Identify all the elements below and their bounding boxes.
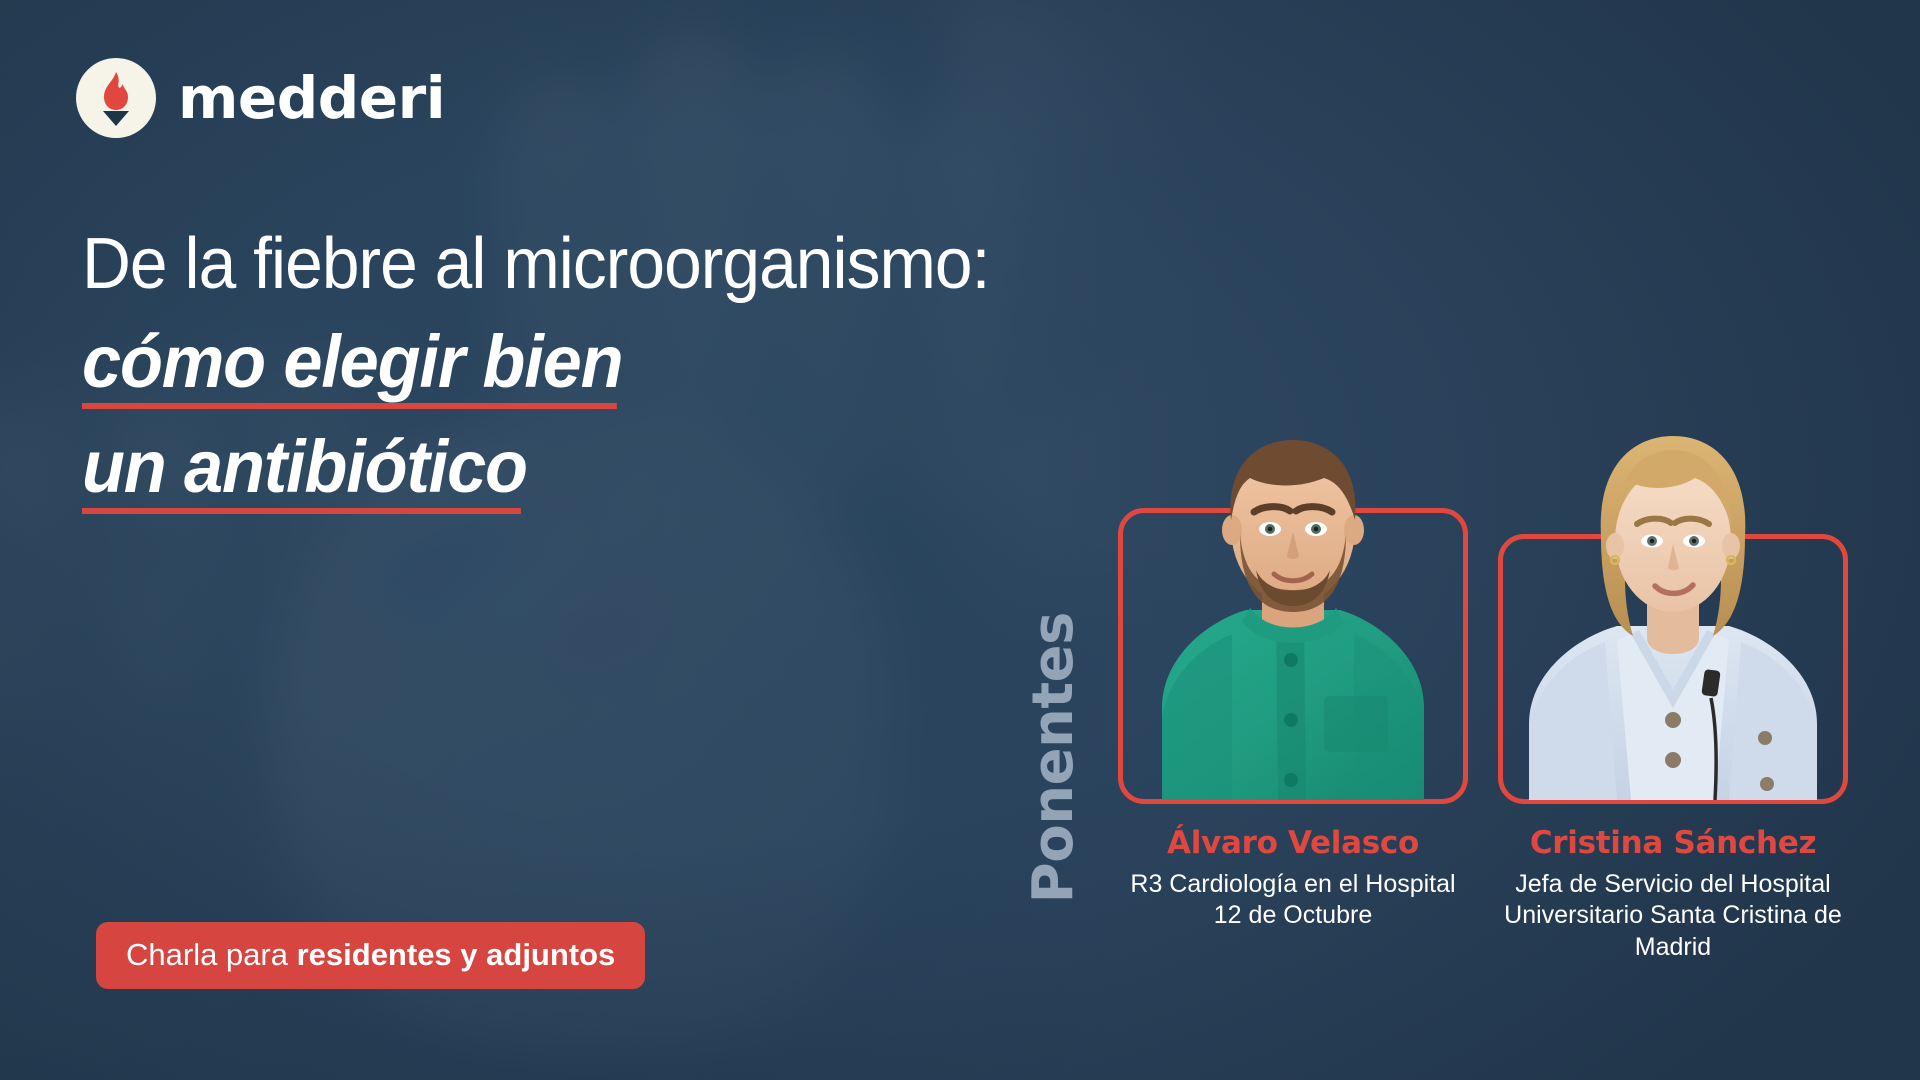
brand-name: medderi bbox=[178, 69, 445, 127]
speakers-vertical-label: Ponentes bbox=[1026, 612, 1082, 903]
portrait-cristina-sanchez bbox=[1505, 408, 1841, 800]
brand-logo[interactable]: medderi bbox=[76, 58, 445, 138]
audience-badge-light-text: Charla para bbox=[126, 937, 297, 972]
promo-banner: medderi De la fiebre al microorganismo: … bbox=[0, 0, 1920, 1080]
title-line-3-row: un antibiótico bbox=[82, 425, 1142, 514]
speaker-card: Cristina Sánchez Jefa de Servicio del Ho… bbox=[1498, 404, 1848, 963]
title-line-3: un antibiótico bbox=[82, 425, 527, 514]
speaker-role: R3 Cardiología en el Hospital 12 de Octu… bbox=[1118, 869, 1468, 932]
audience-badge-bold-text: residentes y adjuntos bbox=[297, 937, 616, 972]
speaker-photo-area bbox=[1118, 404, 1468, 804]
flame-triangle-icon bbox=[76, 58, 156, 138]
flame-triangle-svg bbox=[93, 70, 139, 126]
page-title: De la fiebre al microorganismo: cómo ele… bbox=[82, 226, 1142, 514]
speaker-name: Cristina Sánchez bbox=[1498, 826, 1848, 860]
speaker-card: Álvaro Velasco R3 Cardiología en el Hosp… bbox=[1118, 404, 1468, 963]
audience-badge: Charla para residentes y adjuntos bbox=[96, 922, 645, 989]
speaker-role: Jefa de Servicio del Hospital Universita… bbox=[1498, 869, 1848, 963]
title-line-2-row: cómo elegir bien bbox=[82, 320, 1142, 409]
portrait-alvaro-velasco bbox=[1128, 408, 1458, 800]
speaker-photo-area bbox=[1498, 404, 1848, 804]
title-line-2: cómo elegir bien bbox=[82, 320, 622, 409]
speakers-list: Álvaro Velasco R3 Cardiología en el Hosp… bbox=[1118, 404, 1878, 963]
title-line-1: De la fiebre al microorganismo: bbox=[82, 226, 1078, 302]
speaker-name: Álvaro Velasco bbox=[1118, 826, 1468, 860]
